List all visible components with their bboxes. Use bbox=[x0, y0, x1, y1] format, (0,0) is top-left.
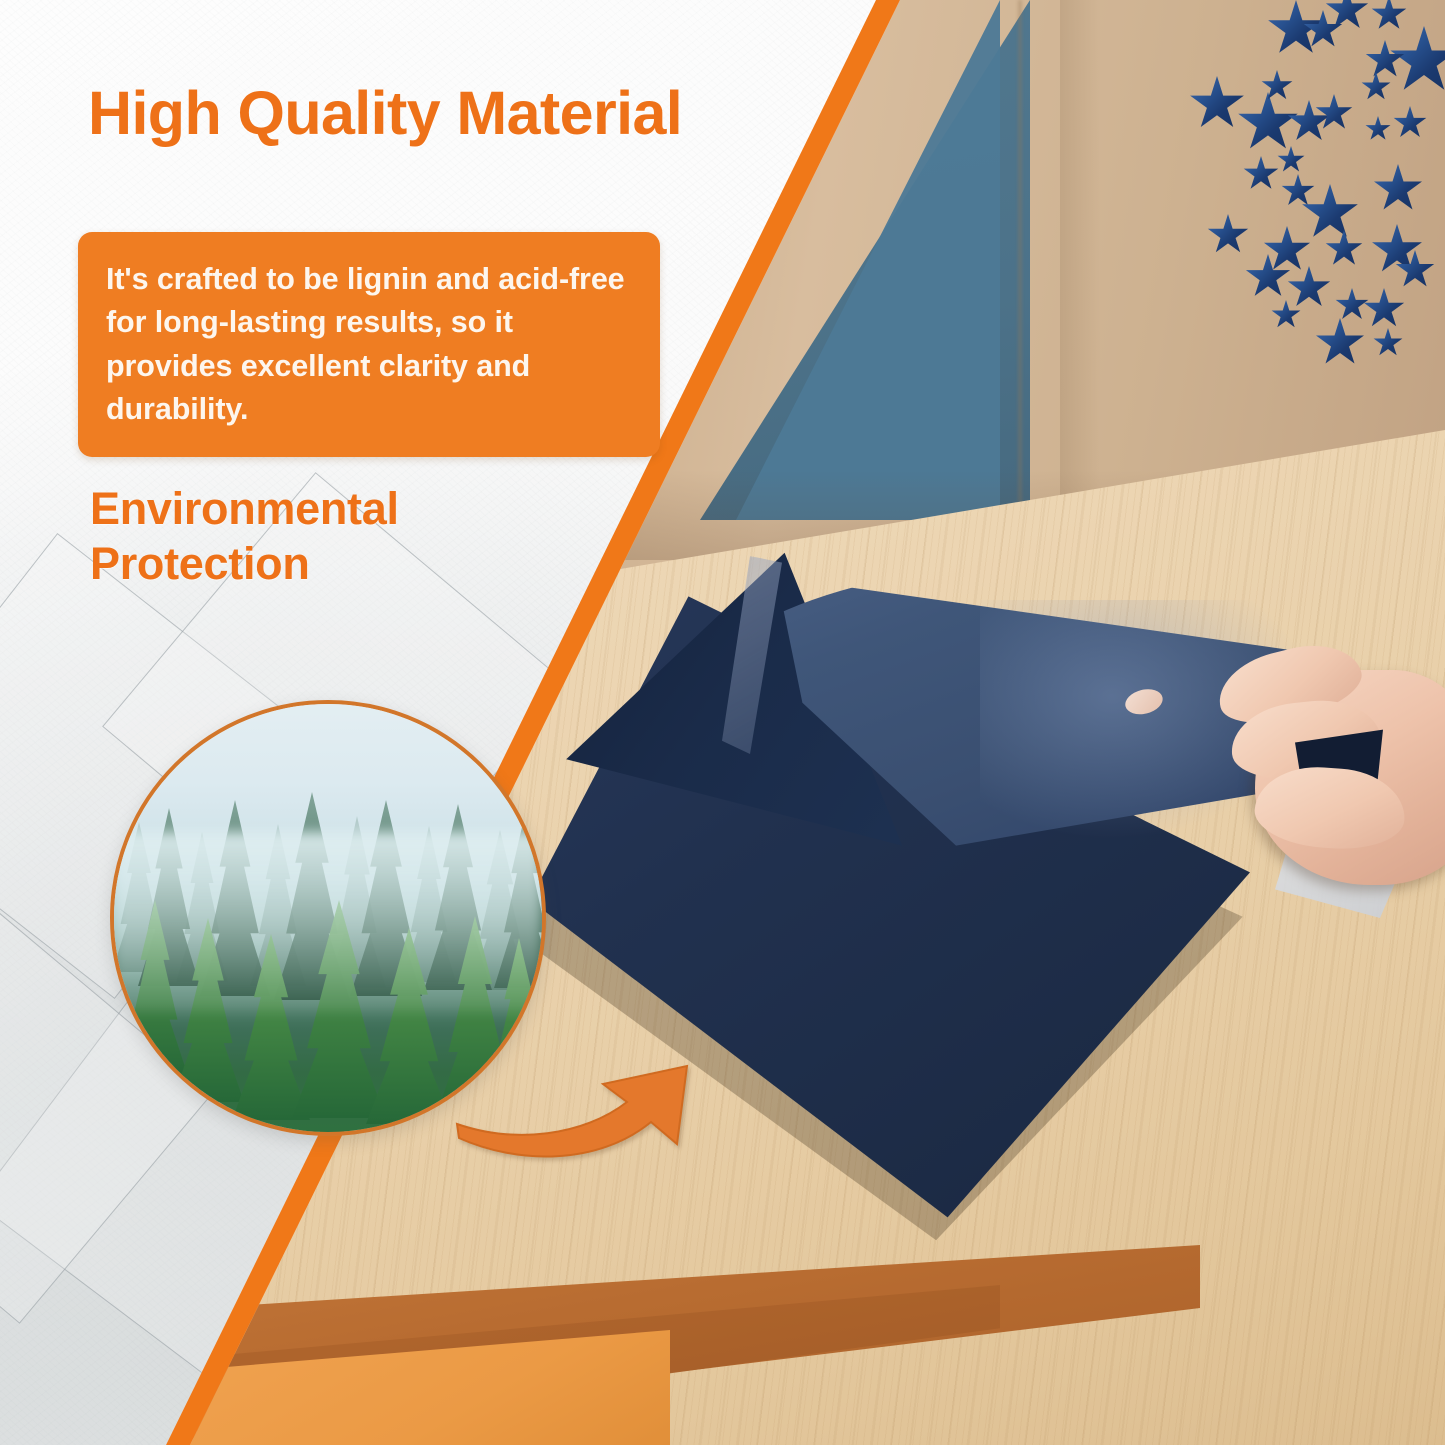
subheading-line-2: Protection bbox=[90, 537, 399, 592]
paper-star-icon bbox=[1287, 100, 1331, 144]
forest-photo-circle bbox=[110, 700, 546, 1136]
paper-star-icon bbox=[1277, 146, 1305, 174]
paper-star-icon bbox=[1373, 328, 1403, 358]
paper-star-icon bbox=[1261, 70, 1293, 102]
section-subheading: Environmental Protection bbox=[90, 482, 399, 592]
paper-star-icon bbox=[1301, 184, 1359, 242]
paper-star-icon bbox=[1237, 92, 1299, 154]
paper-star-icon bbox=[1393, 106, 1427, 140]
paper-star-icon bbox=[1189, 76, 1245, 132]
paper-star-icon bbox=[1243, 156, 1279, 192]
forest-mist-overlay bbox=[114, 832, 542, 1012]
paper-star-icon bbox=[1371, 0, 1407, 32]
paper-star-icon bbox=[1287, 266, 1331, 310]
blue-paper-stars-decoration bbox=[1175, 0, 1445, 408]
paper-star-icon bbox=[1281, 174, 1315, 208]
feature-callout-box: It's crafted to be lignin and acid-free … bbox=[78, 232, 660, 457]
paper-star-icon bbox=[1365, 40, 1405, 80]
page-title: High Quality Material bbox=[88, 78, 682, 148]
paper-star-icon bbox=[1363, 288, 1405, 330]
subheading-line-1: Environmental bbox=[90, 482, 399, 537]
paper-star-icon bbox=[1389, 26, 1445, 96]
paper-star-icon bbox=[1361, 72, 1391, 102]
feature-callout-text: It's crafted to be lignin and acid-free … bbox=[106, 258, 630, 431]
paper-star-icon bbox=[1271, 300, 1301, 330]
paper-star-icon bbox=[1207, 214, 1249, 256]
product-feature-poster: High Quality Material It's crafted to be… bbox=[0, 0, 1445, 1445]
paper-star-icon bbox=[1315, 318, 1365, 368]
paper-star-icon bbox=[1335, 288, 1369, 322]
paper-star-icon bbox=[1373, 164, 1423, 214]
hand-holding-sheet bbox=[1215, 640, 1445, 890]
paper-star-icon bbox=[1325, 230, 1363, 268]
paper-star-icon bbox=[1315, 94, 1353, 132]
paper-star-icon bbox=[1365, 116, 1391, 142]
